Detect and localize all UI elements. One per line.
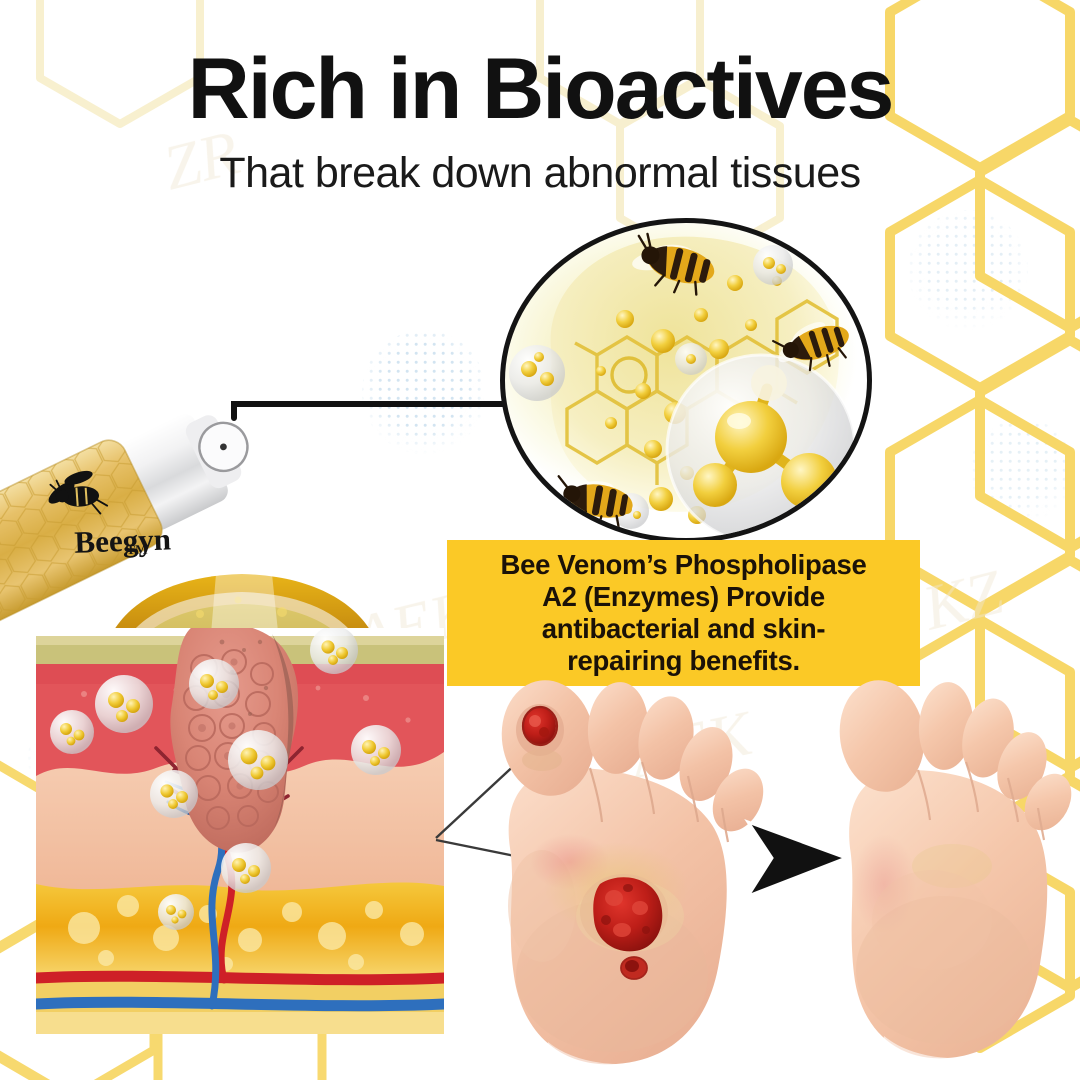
callout-line-3: antibacterial and skin- xyxy=(542,613,825,644)
toe-wart xyxy=(516,704,564,771)
magnifier-contents xyxy=(505,223,872,543)
foot-before-treatment xyxy=(452,676,782,1080)
page-subtitle: That break down abnormal tissues xyxy=(0,150,1080,197)
svg-text:KZ: KZ xyxy=(915,555,1010,643)
skin-cross-section-diagram xyxy=(36,628,444,1034)
foot-after-treatment xyxy=(812,670,1074,1080)
nozzle-connector-line xyxy=(230,398,530,422)
callout-text: Bee Venom’s Phospholipase A2 (Enzymes) P… xyxy=(501,549,867,677)
trademark-symbol: TM xyxy=(126,541,147,557)
magnifier-circle xyxy=(500,218,872,543)
callout-box: Bee Venom’s Phospholipase A2 (Enzymes) P… xyxy=(447,540,920,686)
callout-line-2: A2 (Enzymes) Provide xyxy=(542,581,825,612)
page-title: Rich in Bioactives xyxy=(0,46,1080,134)
callout-line-1: Bee Venom’s Phospholipase xyxy=(501,549,867,580)
callout-line-4: repairing benefits. xyxy=(567,645,800,676)
molecule-bubble xyxy=(667,355,855,543)
marketing-graphic-canvas: ZR AEKZ AEK KZ Rich in Bioactives That b… xyxy=(0,0,1080,1080)
brand-name: Beegyn xyxy=(74,521,172,559)
